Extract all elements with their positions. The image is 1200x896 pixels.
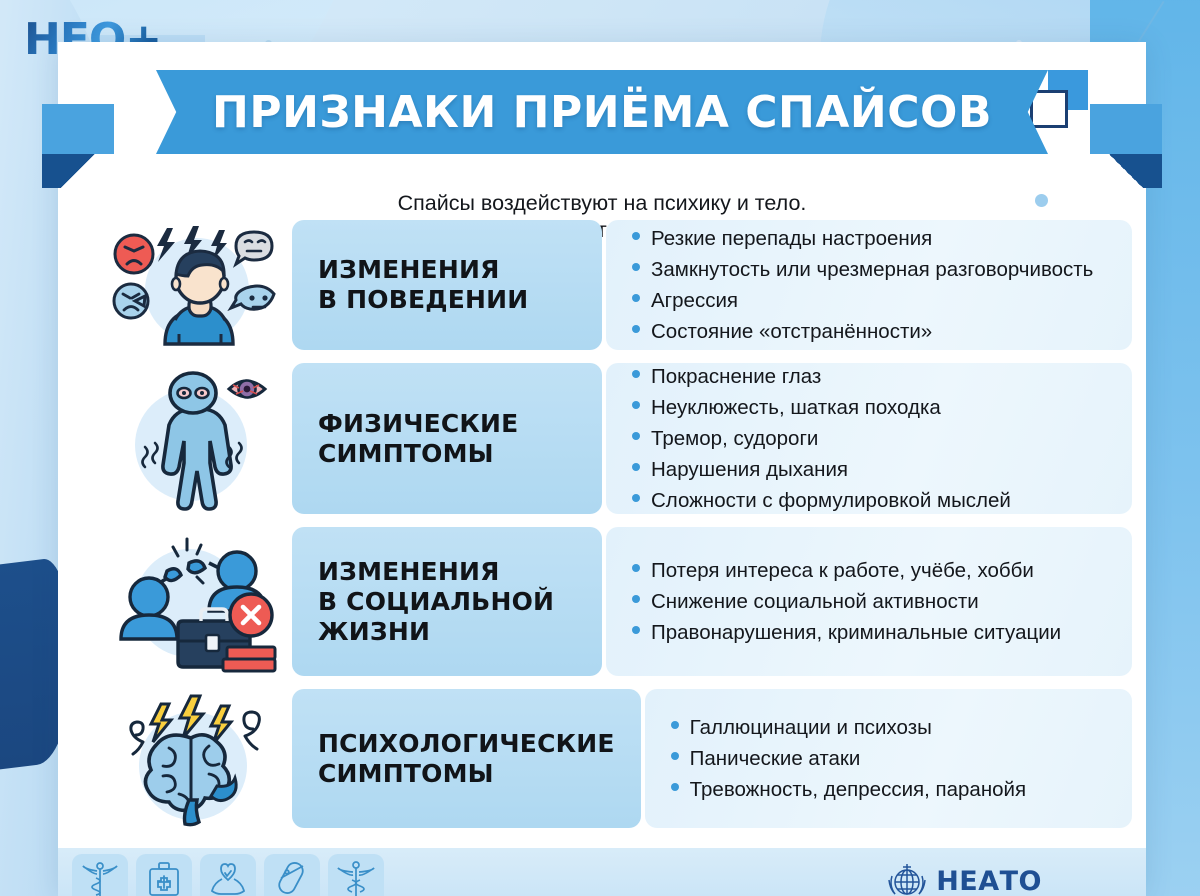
list-item: Правонарушения, криминальные ситуации [632, 617, 1110, 648]
list-item: Неуклюжесть, шаткая походка [632, 392, 1110, 423]
ribbon-body: ПРИЗНАКИ ПРИЁМА СПАЙСОВ [200, 70, 1004, 154]
section-row: ИЗМЕНЕНИЯ В СОЦИАЛЬНОЙ ЖИЗНИ Потеря инте… [96, 527, 1132, 676]
bullet-dot [632, 626, 640, 634]
bullet-dot [632, 432, 640, 440]
section-label: ФИЗИЧЕСКИЕ СИМПТОМЫ [292, 363, 602, 514]
footer-bar: НЕАТО [58, 848, 1146, 896]
section-label: ПСИХОЛОГИЧЕСКИЕ СИМПТОМЫ [292, 689, 641, 828]
caduceus-icon[interactable] [72, 854, 128, 896]
bullet-text: Резкие перепады настроения [651, 223, 932, 254]
broken-social-connection-icon [96, 527, 292, 676]
list-item: Панические атаки [671, 743, 1110, 774]
section-row: ИЗМЕНЕНИЯ В ПОВЕДЕНИИ Резкие перепады на… [96, 220, 1132, 350]
bullet-text: Тремор, судороги [651, 423, 818, 454]
title-ribbon: ПРИЗНАКИ ПРИЁМА СПАЙСОВ [58, 70, 1146, 174]
bullet-text: Снижение социальной активности [651, 586, 979, 617]
bullet-text: Агрессия [651, 285, 738, 316]
who-emblem-icon [886, 860, 928, 896]
section-label-line: ИЗМЕНЕНИЯ [318, 255, 500, 284]
section-label: ИЗМЕНЕНИЯ В СОЦИАЛЬНОЙ ЖИЗНИ [292, 527, 602, 676]
section-label-line: ЖИЗНИ [318, 617, 430, 646]
section-bullets: Потеря интереса к работе, учёбе, хобби С… [606, 527, 1132, 676]
heart-in-hands-icon[interactable] [200, 854, 256, 896]
page-title: ПРИЗНАКИ ПРИЁМА СПАЙСОВ [212, 87, 992, 138]
bullet-dot [632, 564, 640, 572]
list-item: Снижение социальной активности [632, 586, 1110, 617]
bullet-dot [632, 370, 640, 378]
section-row: ПСИХОЛОГИЧЕСКИЕ СИМПТОМЫ Галлюцинации и … [96, 689, 1132, 828]
section-label-line: СИМПТОМЫ [318, 439, 494, 468]
section-label-line: ПСИХОЛОГИЧЕСКИЕ [318, 729, 615, 758]
bullet-text: Состояние «отстранённости» [651, 316, 932, 347]
bullet-dot [632, 494, 640, 502]
list-item: Замкнутость или чрезмерная разговорчивос… [632, 254, 1110, 285]
bullet-dot [671, 783, 679, 791]
pill-capsule-icon[interactable] [264, 854, 320, 896]
section-label-line: ФИЗИЧЕСКИЕ [318, 409, 518, 438]
list-item: Тремор, судороги [632, 423, 1110, 454]
section-label-line: СИМПТОМЫ [318, 759, 494, 788]
list-item: Нарушения дыхания [632, 454, 1110, 485]
bullet-dot [632, 263, 640, 271]
section-bullets: Резкие перепады настроения Замкнутость и… [606, 220, 1132, 350]
list-item: Резкие перепады настроения [632, 223, 1110, 254]
bullet-text: Покраснение глаз [651, 361, 821, 392]
list-item: Галлюцинации и психозы [671, 712, 1110, 743]
bullet-text: Галлюцинации и психозы [690, 712, 932, 743]
bullet-dot [632, 401, 640, 409]
section-label-line: В СОЦИАЛЬНОЙ [318, 587, 554, 616]
infographic-card: ПРИЗНАКИ ПРИЁМА СПАЙСОВ Спайсы воздейств… [58, 42, 1146, 896]
list-item: Сложности с формулировкой мыслей [632, 485, 1110, 516]
bullet-text: Тревожность, депрессия, паранойя [690, 774, 1026, 805]
bullet-dot [632, 325, 640, 333]
bullet-text: Сложности с формулировкой мыслей [651, 485, 1011, 516]
section-label: ИЗМЕНЕНИЯ В ПОВЕДЕНИИ [292, 220, 602, 350]
organization-name: НЕАТО [936, 866, 1042, 896]
bullet-text: Нарушения дыхания [651, 454, 848, 485]
bullet-text: Потеря интереса к работе, учёбе, хобби [651, 555, 1034, 586]
bullet-dot [632, 294, 640, 302]
trembling-body-red-eye-icon [96, 363, 292, 514]
subtitle-line-1: Спайсы воздействуют на психику и тело. [58, 190, 1146, 217]
bullet-dot [632, 232, 640, 240]
footer-icon-strip [72, 854, 384, 896]
bullet-dot [632, 463, 640, 471]
section-label-line: В ПОВЕДЕНИИ [318, 285, 528, 314]
list-item: Агрессия [632, 285, 1110, 316]
bullet-dot [671, 721, 679, 729]
list-item: Покраснение глаз [632, 361, 1110, 392]
caduceus-wings-icon[interactable] [328, 854, 384, 896]
list-item: Потеря интереса к работе, учёбе, хобби [632, 555, 1110, 586]
first-aid-kit-icon[interactable] [136, 854, 192, 896]
section-bullets: Галлюцинации и психозы Панические атаки … [645, 689, 1132, 828]
section-bullets: Покраснение глаз Неуклюжесть, шаткая пох… [606, 363, 1132, 514]
section-row: ФИЗИЧЕСКИЕ СИМПТОМЫ Покраснение глаз Неу… [96, 363, 1132, 514]
bullet-text: Замкнутость или чрезмерная разговорчивос… [651, 254, 1093, 285]
bullet-dot [632, 595, 640, 603]
bullet-dot [671, 752, 679, 760]
mood-swings-person-icon [96, 220, 292, 350]
brain-lightning-icon [96, 689, 292, 828]
bullet-text: Панические атаки [690, 743, 861, 774]
list-item: Тревожность, депрессия, паранойя [671, 774, 1110, 805]
symptom-sections: ИЗМЕНЕНИЯ В ПОВЕДЕНИИ Резкие перепады на… [96, 220, 1132, 841]
bullet-text: Неуклюжесть, шаткая походка [651, 392, 941, 423]
bullet-text: Правонарушения, криминальные ситуации [651, 617, 1061, 648]
list-item: Состояние «отстранённости» [632, 316, 1110, 347]
organization-logo: НЕАТО [886, 854, 1132, 896]
section-label-line: ИЗМЕНЕНИЯ [318, 557, 500, 586]
ribbon-tail-right [1090, 104, 1162, 154]
ribbon-tail-left [42, 104, 114, 154]
